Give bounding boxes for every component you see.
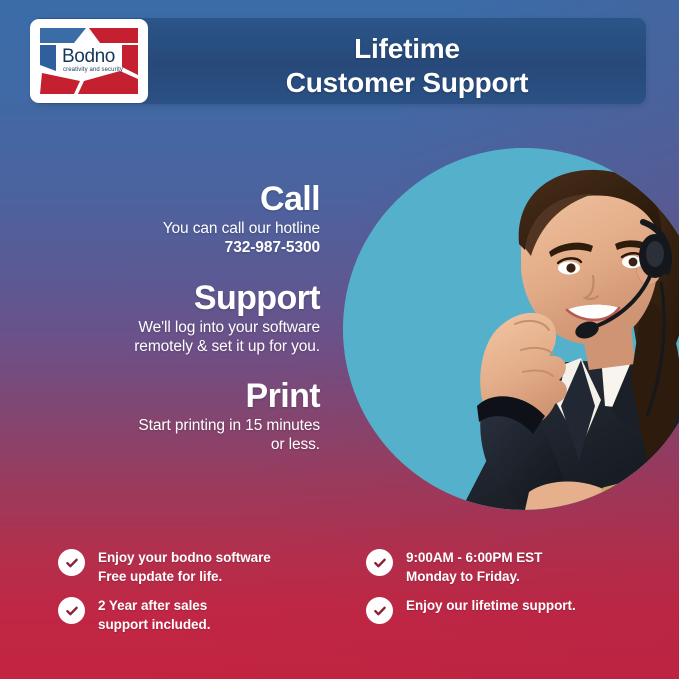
check-icon — [366, 549, 393, 576]
checklist-item-line2: Free update for life. — [98, 569, 222, 584]
page-title: Lifetime Customer Support — [172, 32, 642, 100]
checklist-item: Enjoy our lifetime support. — [366, 596, 658, 644]
page-title-line1: Lifetime — [172, 32, 642, 66]
feature-call-phone[interactable]: 732-987-5300 — [20, 239, 320, 258]
feature-call-title: Call — [20, 182, 320, 217]
checklist-item-text: 2 Year after sales support included. — [98, 596, 210, 634]
check-icon — [58, 597, 85, 624]
feature-print: Print Start printing in 15 minutes or le… — [20, 379, 320, 454]
checklist-item-line1: 9:00AM - 6:00PM EST — [406, 550, 542, 565]
agent-illustration — [343, 148, 679, 510]
feature-support-line2: remotely & set it up for you. — [20, 338, 320, 357]
bodno-logo[interactable]: Bodno creativity and security — [30, 19, 148, 103]
feature-call: Call You can call our hotline 732-987-53… — [20, 182, 320, 257]
checklist-item: 9:00AM - 6:00PM EST Monday to Friday. — [366, 548, 658, 596]
benefits-checklist: Enjoy your bodno software Free update fo… — [58, 548, 658, 644]
checklist-item-line2: support included. — [98, 617, 210, 632]
checklist-item: Enjoy your bodno software Free update fo… — [58, 548, 350, 596]
support-agent-photo — [343, 148, 679, 510]
bodno-logo-mark: Bodno creativity and security — [34, 23, 144, 99]
checklist-item-line2: Monday to Friday. — [406, 569, 520, 584]
check-icon — [366, 597, 393, 624]
feature-print-subtext: Start printing in 15 minutes or less. — [20, 417, 320, 455]
checklist-item-line1: 2 Year after sales — [98, 598, 207, 613]
check-icon — [58, 549, 85, 576]
page-title-line2: Customer Support — [172, 66, 642, 100]
checklist-item-line1: Enjoy our lifetime support. — [406, 598, 576, 613]
logo-tagline: creativity and security — [63, 67, 123, 73]
feature-support: Support We'll log into your software rem… — [20, 281, 320, 356]
checklist-item-line1: Enjoy your bodno software — [98, 550, 271, 565]
checklist-item-text: Enjoy your bodno software Free update fo… — [98, 548, 271, 586]
checklist-item-text: Enjoy our lifetime support. — [406, 596, 576, 616]
feature-call-subtext: You can call our hotline 732-987-5300 — [20, 220, 320, 258]
feature-call-line1: You can call our hotline — [20, 220, 320, 239]
checklist-item: 2 Year after sales support included. — [58, 596, 350, 644]
feature-support-subtext: We'll log into your software remotely & … — [20, 319, 320, 357]
feature-print-line2: or less. — [20, 436, 320, 455]
feature-support-title: Support — [20, 281, 320, 316]
logo-wordmark: Bodno — [62, 47, 115, 66]
feature-print-line1: Start printing in 15 minutes — [20, 417, 320, 436]
feature-print-title: Print — [20, 379, 320, 414]
checklist-item-text: 9:00AM - 6:00PM EST Monday to Friday. — [406, 548, 542, 586]
feature-support-line1: We'll log into your software — [20, 319, 320, 338]
